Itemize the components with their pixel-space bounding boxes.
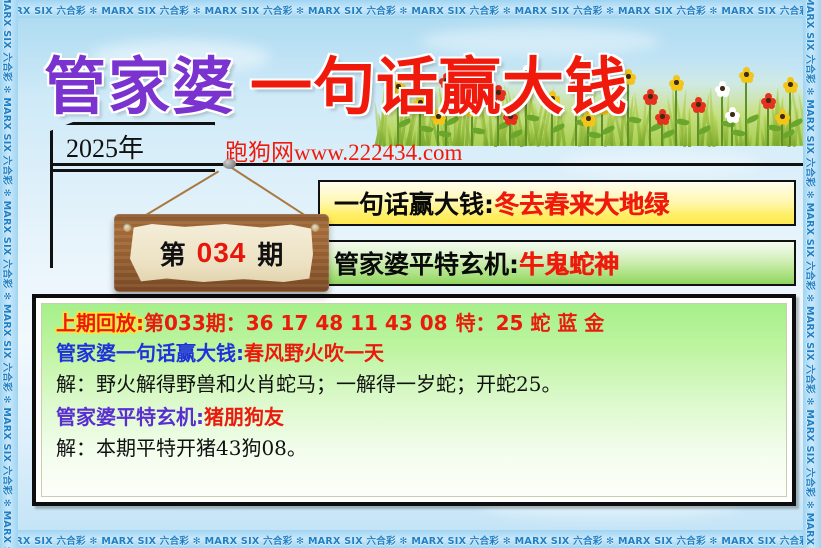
flower-stem xyxy=(697,108,699,146)
content-panel-inner: 上期回放:第033期：36 17 48 11 43 08特：25 蛇 蓝 金 管… xyxy=(41,303,787,497)
border-bottom: MARX SIX 六合彩 ✻ MARX SIX 六合彩 ✻ MARX SIX 六… xyxy=(0,530,821,548)
issue-sign-paper: 第034期 xyxy=(130,224,313,282)
sign-hole-right xyxy=(311,223,320,232)
review-special-value: 25 蛇 蓝 金 xyxy=(496,311,605,335)
flower-icon xyxy=(725,107,740,122)
issue-suffix: 期 xyxy=(257,235,283,272)
banner-phrase-value: 冬去春来大地绿 xyxy=(494,185,669,221)
special-label: 管家婆平特玄机: xyxy=(56,405,204,429)
issue-sign-board: 第034期 xyxy=(114,214,329,292)
banner-special-label: 管家婆平特玄机: xyxy=(334,245,519,281)
title-slogan: 一句话赢大钱 xyxy=(250,50,628,123)
special-row: 管家婆平特玄机:猪朋狗友 xyxy=(56,407,772,427)
flower-icon xyxy=(739,67,754,82)
flower-icon xyxy=(669,75,684,90)
content-panel: 上期回放:第033期：36 17 48 11 43 08特：25 蛇 蓝 金 管… xyxy=(32,294,796,506)
border-pattern-text: MARX SIX 六合彩 ✻ MARX SIX 六合彩 ✻ MARX SIX 六… xyxy=(0,3,821,17)
grass-blade xyxy=(688,107,691,146)
site-url: 跑狗网www.222434.com xyxy=(225,133,462,167)
banner-phrase: 一句话赢大钱:冬去春来大地绿 xyxy=(318,180,796,226)
flower-icon xyxy=(761,93,776,108)
header-rule-left xyxy=(50,163,53,268)
review-row: 上期回放:第033期：36 17 48 11 43 08特：25 蛇 蓝 金 xyxy=(56,313,772,333)
flower-stem xyxy=(745,78,747,146)
flower-stem xyxy=(649,100,651,146)
flower-icon xyxy=(715,81,730,96)
poster-page: 管家婆一句话赢大钱 2025年 跑狗网www.222434.com 第034期 … xyxy=(0,0,821,548)
sign-hole-left xyxy=(123,223,132,232)
page-title: 管家婆一句话赢大钱 xyxy=(44,36,628,126)
title-brand: 管家婆 xyxy=(44,50,236,123)
border-left: MARX SIX 六合彩 ✻ MARX SIX 六合彩 ✻ MARX SIX 六… xyxy=(0,0,18,548)
sign-peg-icon xyxy=(223,159,236,169)
border-pattern-text: MARX SIX 六合彩 ✻ MARX SIX 六合彩 ✻ MARX SIX 六… xyxy=(1,0,15,548)
border-top: MARX SIX 六合彩 ✻ MARX SIX 六合彩 ✻ MARX SIX 六… xyxy=(0,0,821,18)
grass-blade xyxy=(529,123,532,146)
phrase-explain-row: 解：野火解得野兽和火肖蛇马；一解得一岁蛇；开蛇25。 xyxy=(56,374,772,394)
review-issue: 第033期： xyxy=(144,311,246,335)
special-explain-row: 解：本期平特开猪43狗08。 xyxy=(56,438,772,458)
issue-prefix: 第 xyxy=(160,235,186,272)
banner-special-value: 牛鬼蛇神 xyxy=(519,245,619,281)
special-value: 猪朋狗友 xyxy=(204,405,284,429)
issue-number: 034 xyxy=(197,237,247,269)
flower-icon xyxy=(775,109,790,124)
border-pattern-text: MARX SIX 六合彩 ✻ MARX SIX 六合彩 ✻ MARX SIX 六… xyxy=(804,0,818,548)
flower-stem xyxy=(721,92,723,146)
flower-icon xyxy=(643,89,658,104)
phrase-value: 春风野火吹一天 xyxy=(244,341,384,365)
phrase-explain: 解：野火解得野兽和火肖蛇马；一解得一岁蛇；开蛇25。 xyxy=(56,372,561,396)
flower-icon xyxy=(691,97,706,112)
review-numbers: 36 17 48 11 43 08 xyxy=(246,311,448,335)
banner-phrase-label: 一句话赢大钱: xyxy=(334,185,494,221)
border-right: MARX SIX 六合彩 ✻ MARX SIX 六合彩 ✻ MARX SIX 六… xyxy=(803,0,821,548)
review-label: 上期回放: xyxy=(56,311,144,335)
grass-blade xyxy=(537,131,540,146)
flower-stem xyxy=(675,86,677,146)
border-pattern-text: MARX SIX 六合彩 ✻ MARX SIX 六合彩 ✻ MARX SIX 六… xyxy=(0,533,821,547)
banner-special: 管家婆平特玄机:牛鬼蛇神 xyxy=(318,240,796,286)
flower-icon xyxy=(655,109,670,124)
poster-frame: 管家婆一句话赢大钱 2025年 跑狗网www.222434.com 第034期 … xyxy=(18,18,803,530)
special-explain: 解：本期平特开猪43狗08。 xyxy=(56,436,307,460)
flower-icon xyxy=(783,77,798,92)
year-label: 2025年 xyxy=(66,128,144,165)
phrase-label: 管家婆一句话赢大钱: xyxy=(56,341,244,365)
review-special-label: 特： xyxy=(456,311,496,335)
phrase-row: 管家婆一句话赢大钱:春风野火吹一天 xyxy=(56,343,772,363)
